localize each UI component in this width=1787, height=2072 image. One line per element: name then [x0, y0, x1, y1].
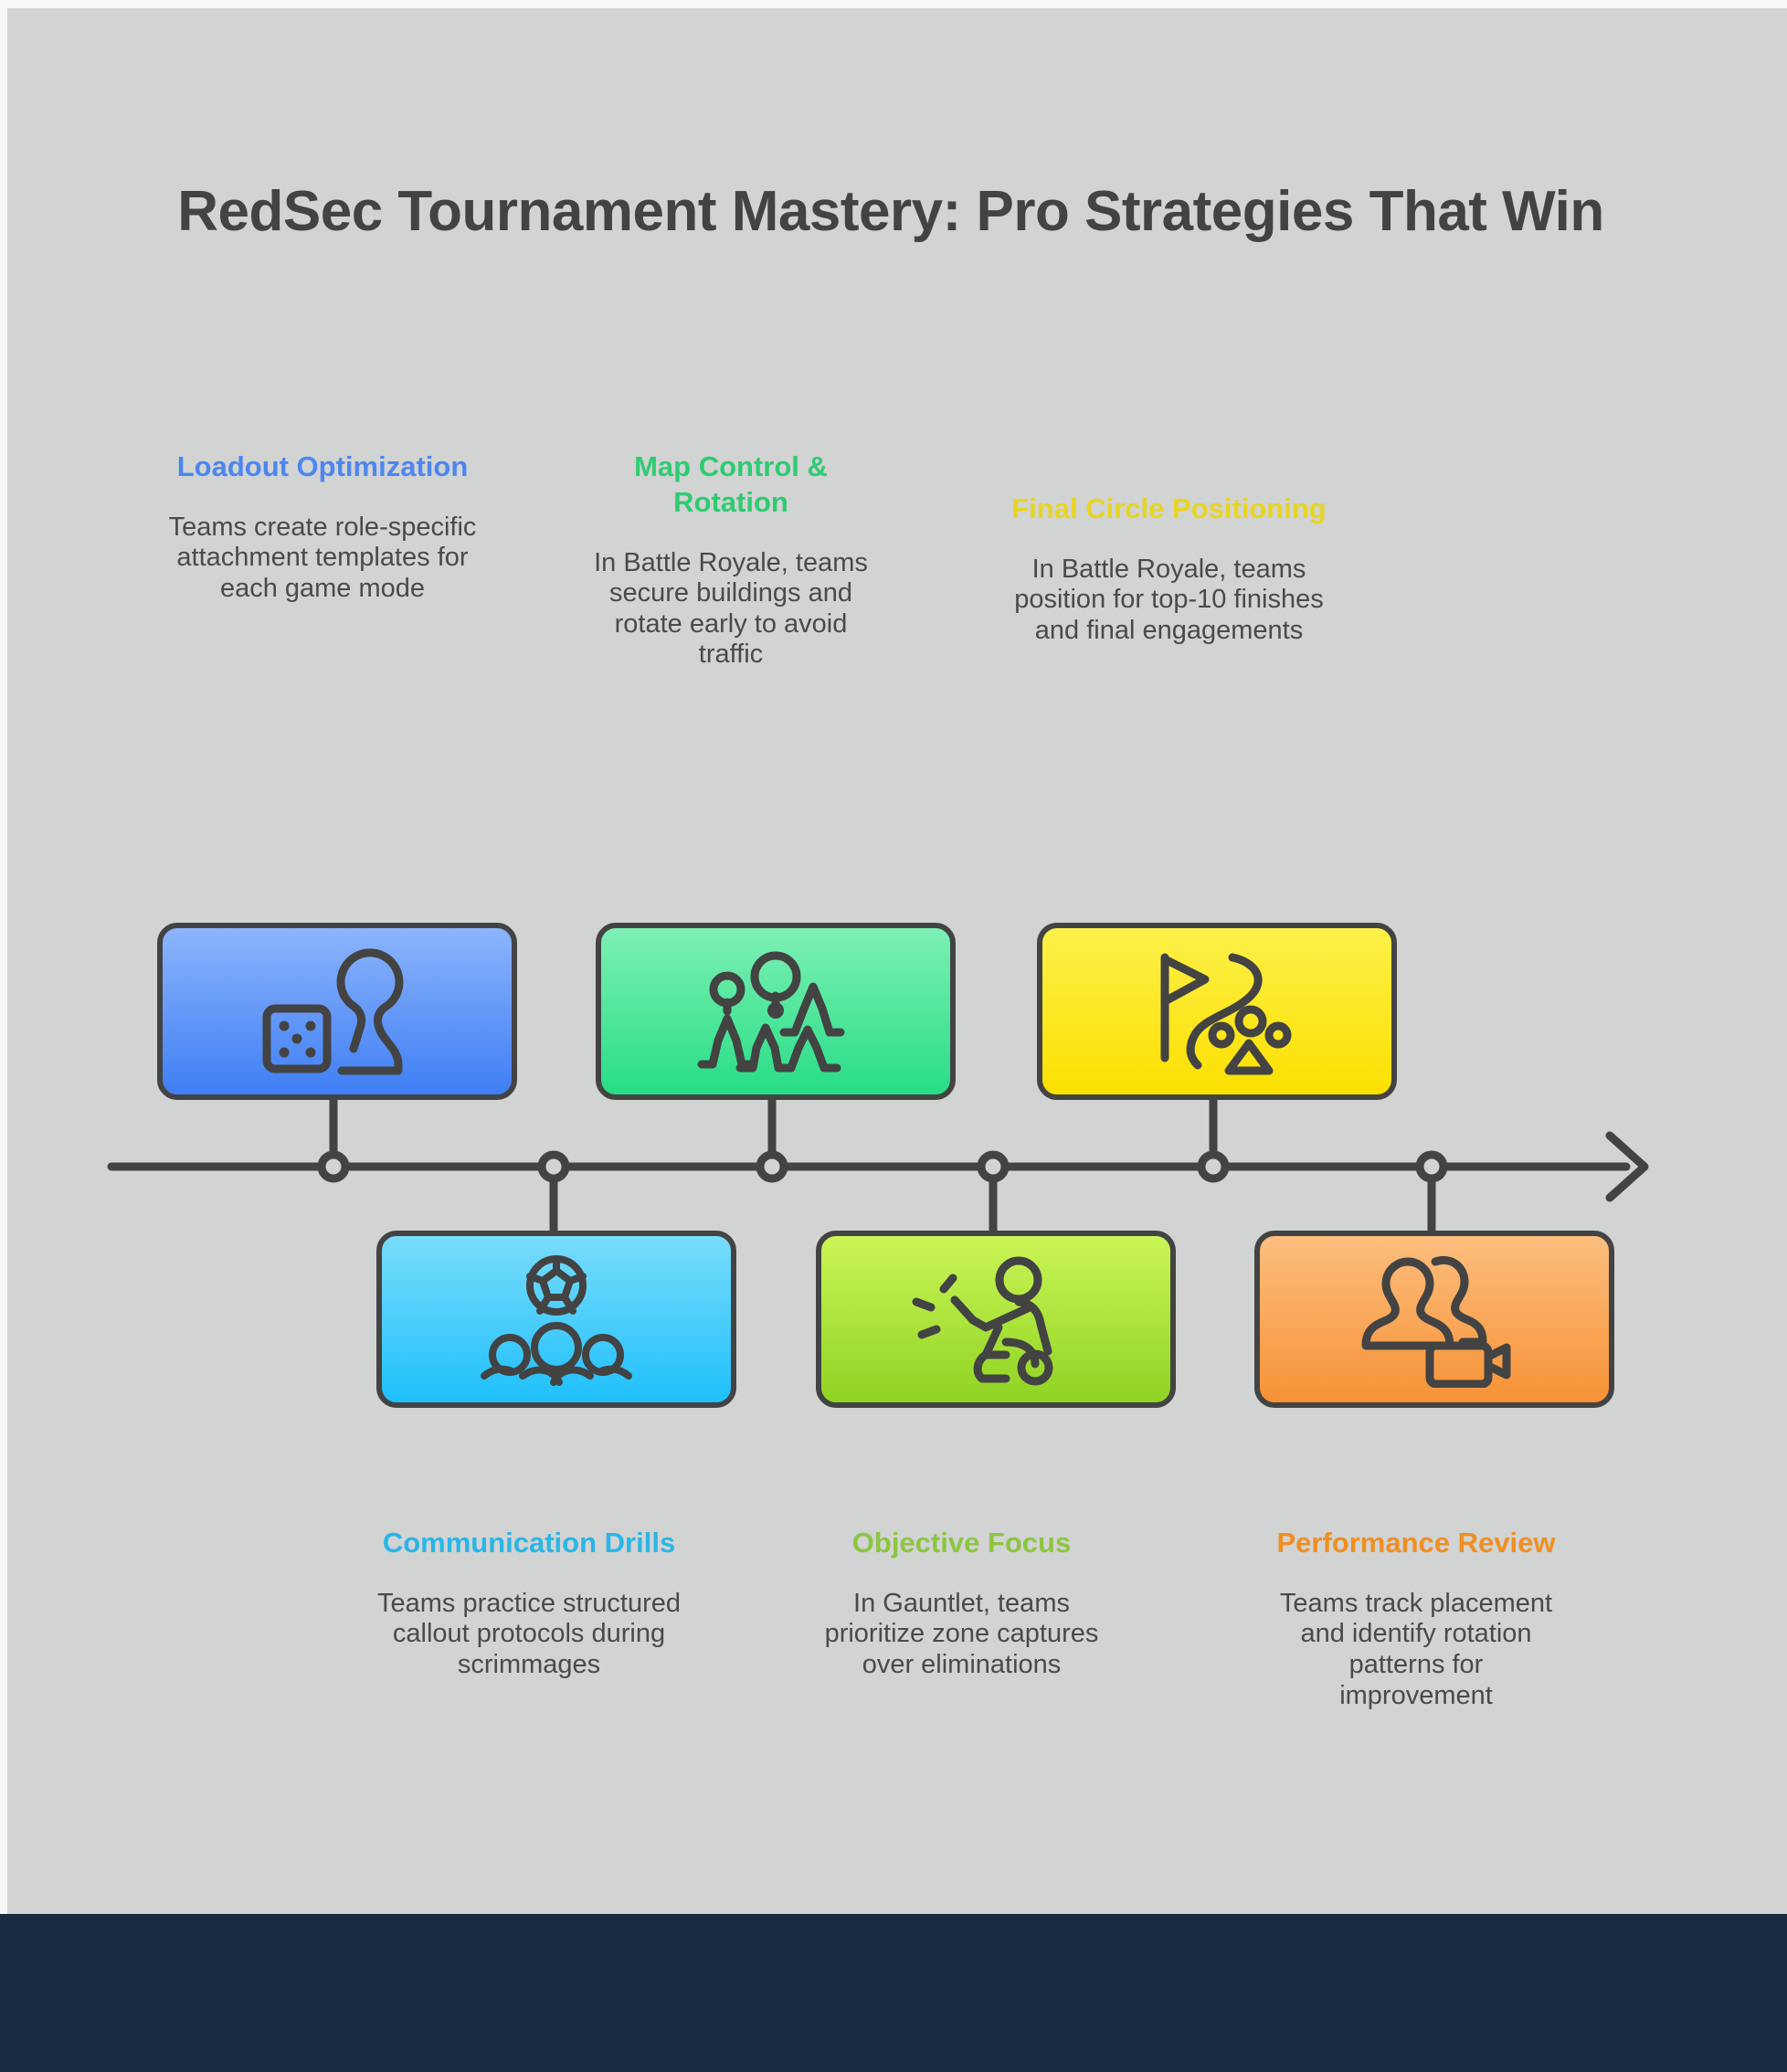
- step-description: Teams practice structured callout protoc…: [364, 1589, 694, 1681]
- infographic-canvas: RedSec Tournament Mastery: Pro Strategie…: [0, 0, 1787, 2072]
- step-text-final-circle-positioning: Final Circle Positioning In Battle Royal…: [1011, 492, 1327, 647]
- step-description: Teams track placement and identify rotat…: [1274, 1589, 1558, 1712]
- step-card-objective-focus[interactable]: [816, 1231, 1176, 1408]
- step-card-loadout-optimization[interactable]: [157, 923, 517, 1100]
- step-description: In Battle Royale, teams secure buildings…: [585, 548, 877, 671]
- step-card-performance-review[interactable]: [1254, 1231, 1614, 1408]
- step-text-loadout-optimization: Loadout Optimization Teams create role-s…: [163, 449, 482, 605]
- map-terrain-pins-icon: [671, 943, 881, 1080]
- step-text-performance-review: Performance Review Teams track placement…: [1274, 1526, 1558, 1711]
- step-description: In Gauntlet, teams prioritize zone captu…: [804, 1589, 1119, 1681]
- step-card-map-control-rotation[interactable]: [596, 923, 956, 1100]
- step-card-communication-drills[interactable]: [376, 1231, 736, 1408]
- athlete-kicking-icon: [891, 1251, 1101, 1388]
- dice-and-pawn-icon: [232, 943, 442, 1080]
- step-description: In Battle Royale, teams position for top…: [1011, 555, 1327, 647]
- step-heading: Final Circle Positioning: [1011, 492, 1327, 527]
- flag-path-paw-icon: [1112, 943, 1322, 1080]
- step-text-map-control-rotation: Map Control & Rotation In Battle Royale,…: [585, 449, 877, 671]
- people-video-review-icon: [1329, 1251, 1539, 1388]
- team-with-ball-icon: [451, 1251, 661, 1388]
- step-description: Teams create role-specific attachment te…: [163, 513, 482, 605]
- step-heading: Performance Review: [1274, 1526, 1558, 1561]
- footer-band: [0, 1914, 1787, 2072]
- step-heading: Objective Focus: [804, 1526, 1119, 1561]
- step-heading: Map Control & Rotation: [585, 449, 877, 521]
- page-title: RedSec Tournament Mastery: Pro Strategie…: [119, 179, 1663, 244]
- step-text-objective-focus: Objective Focus In Gauntlet, teams prior…: [804, 1526, 1119, 1681]
- step-heading: Communication Drills: [364, 1526, 694, 1561]
- step-card-final-circle-positioning[interactable]: [1037, 923, 1397, 1100]
- step-heading: Loadout Optimization: [163, 449, 482, 485]
- step-text-communication-drills: Communication Drills Teams practice stru…: [364, 1526, 694, 1681]
